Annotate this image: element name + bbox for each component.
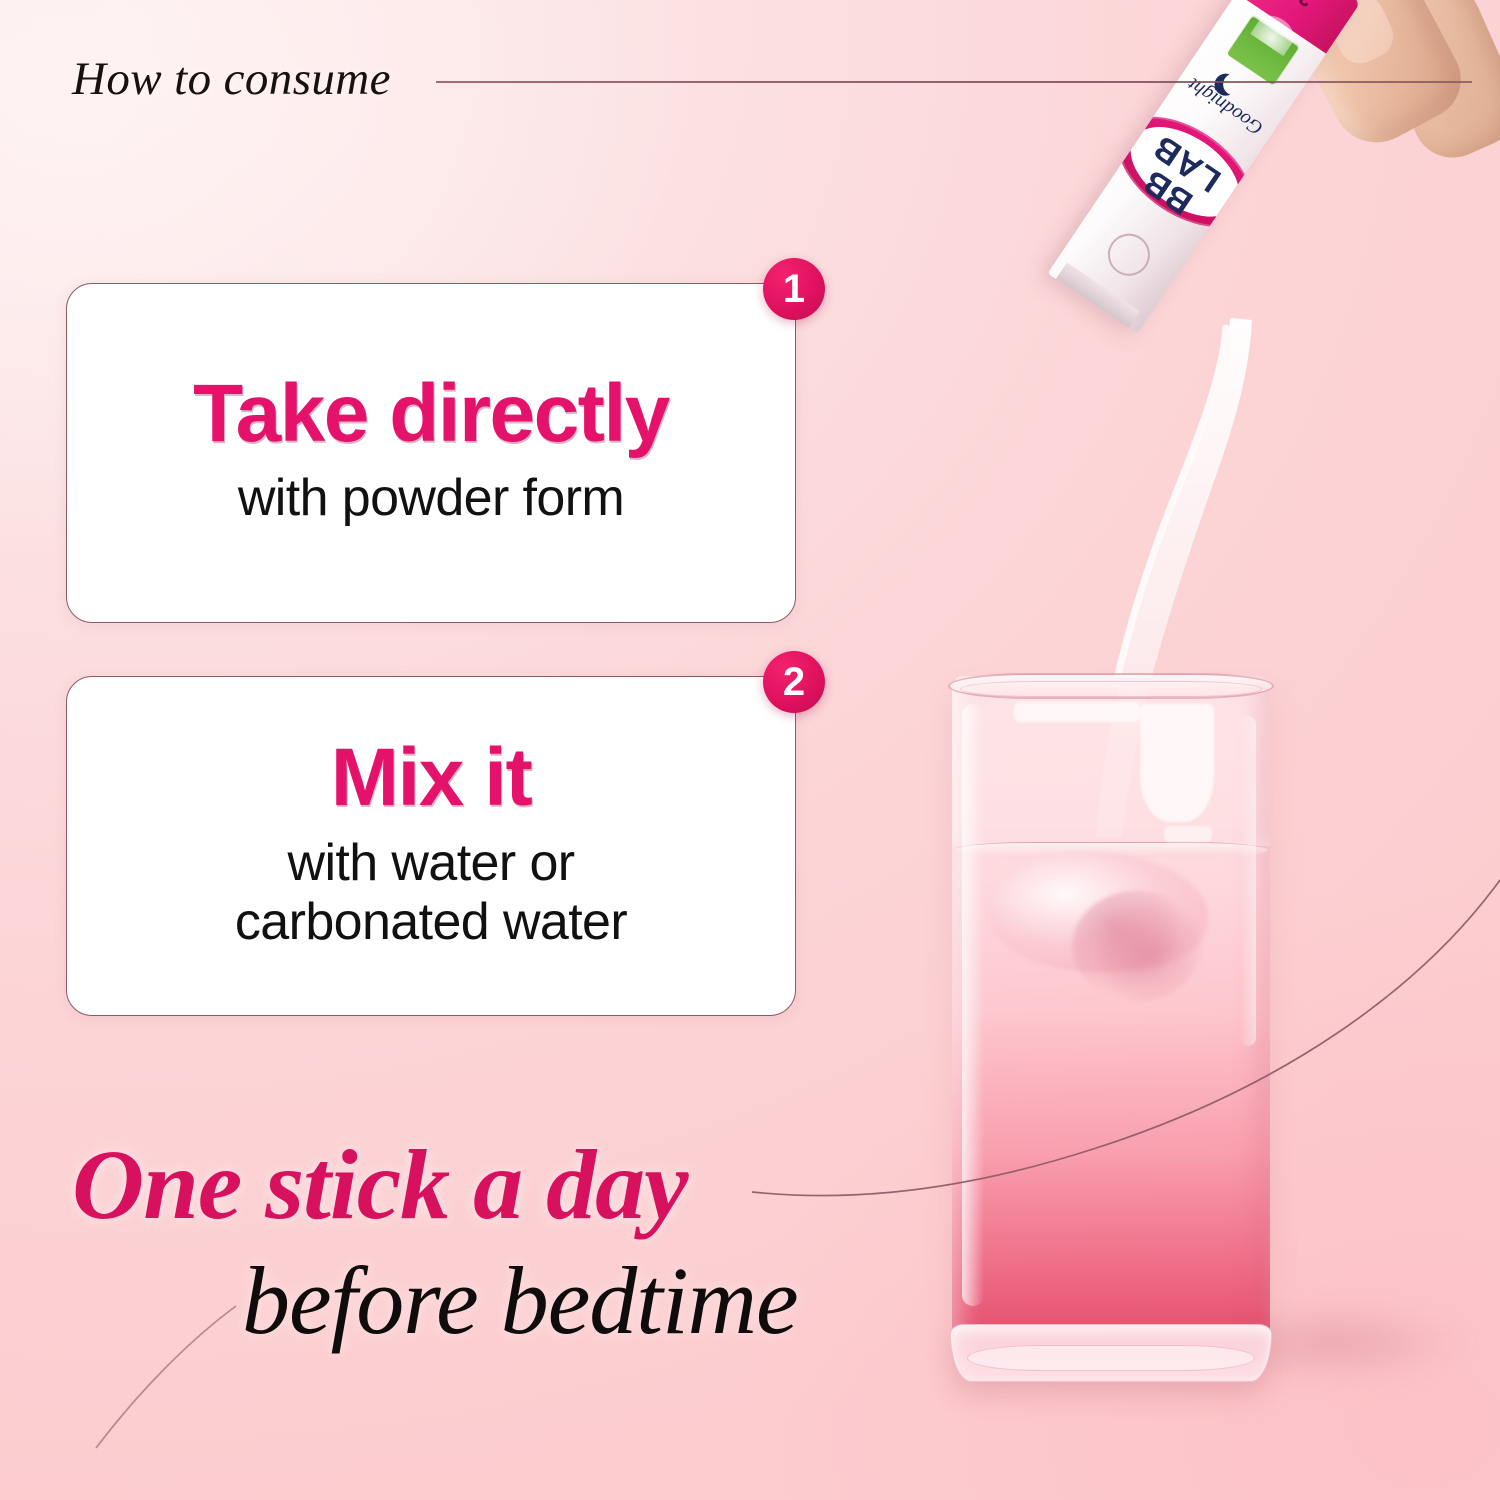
dissolving-powder-cloud [988, 852, 1208, 972]
step-2-subtitle-line-2: carbonated water [235, 893, 627, 952]
step-2-title: Mix it [331, 736, 532, 820]
product-stick-sachet: 2g Goodnight BB LAB [1048, 0, 1361, 334]
powder-particles [1072, 891, 1202, 1001]
tagline: One stick a day before bedtime [72, 1135, 972, 1349]
step-1-number-badge: 1 [763, 258, 825, 320]
glass-base-ellipse [967, 1345, 1255, 1371]
glass-liquid [952, 676, 1270, 1376]
glass-highlight-right [1240, 716, 1256, 1046]
poster-stage: 2g Goodnight BB LAB How to consume Take … [0, 0, 1500, 1500]
glass-reflection-c [1164, 826, 1212, 842]
glass-of-water [952, 676, 1270, 1376]
step-card-1[interactable]: Take directly with powder form [66, 283, 796, 623]
step-2-subtitle: with water or carbonated water [235, 834, 627, 953]
glass-rim [948, 673, 1274, 699]
sachet-logo-band [1099, 94, 1271, 249]
glass-reflection-b [1140, 704, 1214, 822]
step-card-2[interactable]: Mix it with water or carbonated water [66, 676, 796, 1016]
page-title: How to consume [72, 52, 391, 106]
step-2-number-badge: 2 [763, 651, 825, 713]
sachet-brand-label: BB LAB [1114, 119, 1242, 236]
header: How to consume [72, 52, 1472, 106]
sachet-circle-mark [1100, 226, 1158, 284]
sachet-logo-band-inner [1115, 109, 1255, 235]
glass-rim-inner [960, 681, 1262, 697]
glass-empty-headspace [952, 676, 1270, 846]
sachet-net-weight: 2g [1249, 0, 1353, 35]
glass-drop-shadow [1240, 1300, 1470, 1386]
tagline-line-1: One stick a day [72, 1135, 972, 1235]
water-surface-line [954, 842, 1268, 858]
header-divider-line [436, 81, 1472, 83]
step-1-title: Take directly [193, 372, 669, 456]
sachet-magenta-band [1237, 0, 1361, 54]
step-2-subtitle-line-1: with water or [235, 834, 627, 893]
glass-reflection-a [1014, 702, 1140, 722]
tagline-line-2: before bedtime [242, 1253, 972, 1349]
sachet-open-tip [1052, 262, 1139, 333]
glass-base [950, 1324, 1272, 1382]
pouring-powder-stream [1082, 318, 1252, 838]
step-1-subtitle: with powder form [238, 469, 624, 528]
